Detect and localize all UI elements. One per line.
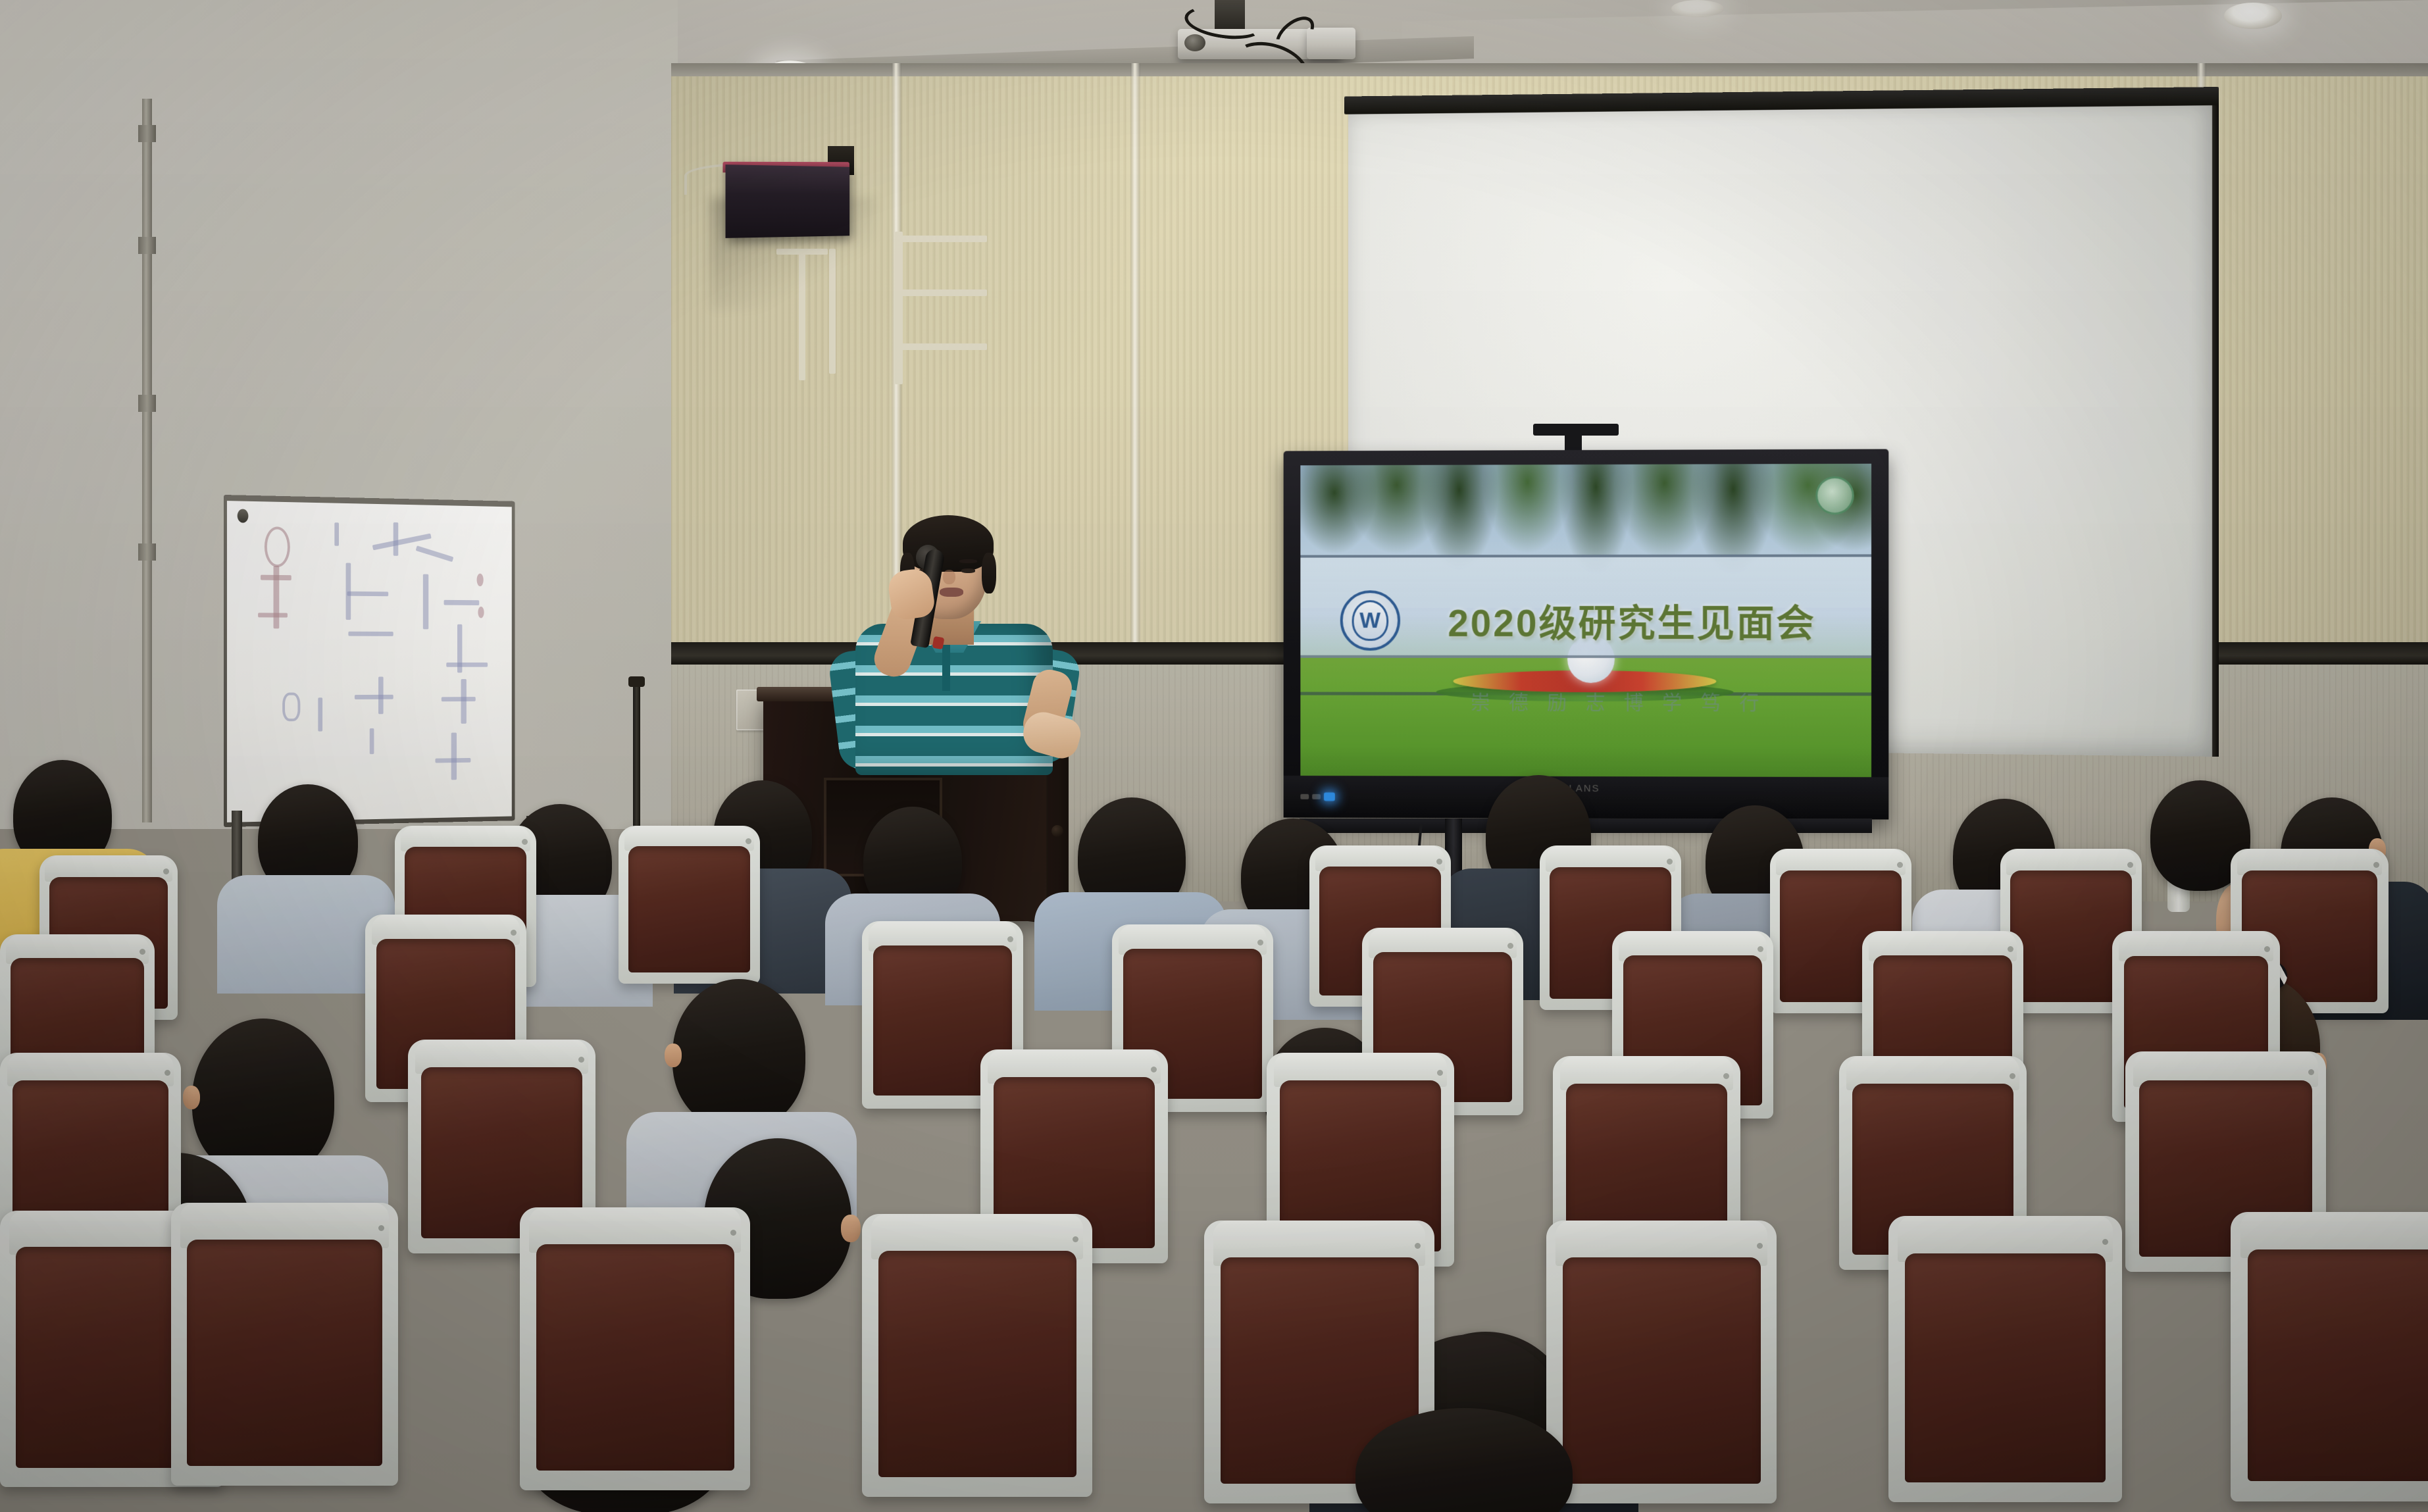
audience-head	[192, 1019, 334, 1178]
auditorium-seat[interactable]	[520, 1207, 750, 1490]
seat-rivet	[2102, 1239, 2108, 1245]
pipe-joint	[138, 543, 156, 561]
seat-rivet	[1723, 1073, 1729, 1079]
presenter-eye	[961, 568, 975, 573]
audience-ear	[665, 1044, 682, 1067]
ceiling-downlight-icon	[2224, 3, 2282, 29]
auditorium-seat[interactable]	[2231, 1212, 2428, 1501]
slide-title: 2020级研究生见面会	[1448, 593, 1816, 647]
display-screen: W 2020级研究生见面会 崇 德 励 志 博 学 笃 行	[1300, 464, 1871, 777]
seat-rivet	[2010, 1073, 2015, 1079]
presenter-hair	[903, 515, 994, 572]
lcd-display: W 2020级研究生见面会 崇 德 励 志 博 学 笃 行 LANS	[1284, 449, 1889, 819]
seat-cushion	[187, 1240, 382, 1466]
seat-rivet	[2373, 862, 2379, 868]
audience-head	[672, 979, 805, 1129]
presenter-brow	[959, 559, 977, 563]
display-control-icon[interactable]	[1300, 794, 1309, 799]
slide-corner-logo-icon	[1815, 476, 1854, 515]
seat-rivet	[2308, 1069, 2314, 1075]
seat-cushion	[536, 1244, 734, 1471]
seat-rivet	[2264, 946, 2270, 952]
projector-lens-icon	[1184, 34, 1205, 51]
seat-cushion	[878, 1251, 1076, 1477]
university-emblem-icon: W	[1340, 590, 1400, 651]
wall-rail	[895, 236, 987, 242]
presenter-shirt-placket	[942, 645, 950, 691]
microphone-stand-head	[628, 676, 645, 687]
auditorium-seat[interactable]	[1546, 1221, 1777, 1503]
wall-rail	[895, 343, 987, 350]
audience-ear	[841, 1215, 861, 1242]
pipe-joint	[138, 125, 156, 142]
audience-ear	[183, 1086, 200, 1109]
wall-top-trim	[671, 63, 2428, 76]
emblem-letter: W	[1352, 600, 1388, 641]
whiteboard-clip	[238, 509, 249, 522]
wall-rail	[895, 290, 987, 296]
whiteboard	[224, 495, 515, 827]
projection-screen-side-trim	[2212, 104, 2219, 757]
lecture-hall-photo: W 2020级研究生见面会 崇 德 励 志 博 学 笃 行 LANS	[0, 0, 2428, 1512]
microphone-tip-icon	[932, 636, 945, 650]
display-power-led-icon	[1324, 792, 1335, 801]
presenter-mouth	[940, 588, 963, 597]
auditorium-seat[interactable]	[171, 1203, 398, 1486]
wall-speaker-icon	[726, 164, 850, 238]
wall-pipe	[142, 99, 152, 822]
presenter-nose	[943, 570, 955, 584]
seat-rivet	[1437, 1070, 1443, 1076]
seat-rivet	[522, 839, 528, 845]
auditorium-seat[interactable]	[619, 826, 760, 984]
seat-cushion	[1905, 1253, 2106, 1482]
display-control-icon[interactable]	[1312, 794, 1321, 799]
pipe-joint	[138, 395, 156, 412]
wall-rail	[895, 232, 903, 384]
wall-panel-divider	[1130, 63, 1140, 682]
seat-rivet	[578, 1057, 584, 1063]
slide-subtitle: 崇 德 励 志 博 学 笃 行	[1471, 686, 1766, 715]
whiteboard-surface	[227, 501, 512, 822]
projector-rear-module	[1307, 28, 1355, 59]
seat-rivet	[1151, 1067, 1157, 1072]
seat-rivet	[164, 1070, 170, 1076]
presenter-hair-side	[982, 553, 996, 593]
whiteboard-leg	[232, 811, 242, 883]
podium-knob-icon[interactable]	[1051, 825, 1063, 837]
ceiling-downlight-icon	[1671, 0, 1724, 17]
pipe-joint	[138, 237, 156, 254]
seat-cushion	[628, 846, 750, 972]
auditorium-seat[interactable]	[862, 1214, 1092, 1497]
seat-rivet	[1436, 859, 1442, 865]
seat-cushion	[2248, 1249, 2428, 1481]
seat-cushion	[1563, 1257, 1761, 1484]
auditorium-seat[interactable]	[1888, 1216, 2122, 1502]
